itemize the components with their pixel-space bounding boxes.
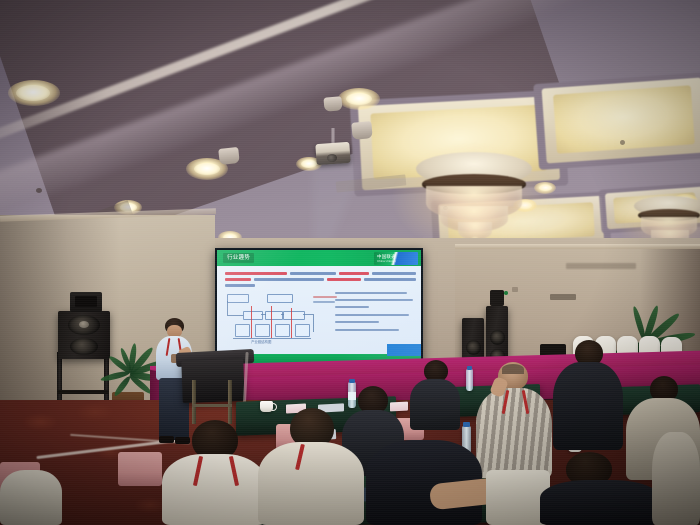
lectern-leg [228,380,232,424]
smoke-detector [36,188,42,193]
conference-room-photo: 行业趣势 中国联通 China Unicom [0,0,700,525]
wall-plate [512,287,518,292]
speaker-top-monitor-right [490,290,504,306]
attendee-foreground [258,408,364,525]
lectern-crossbar [192,404,232,407]
downlight-core [346,93,372,105]
attendee-foreground [162,420,266,525]
ceiling-spotlight-can [351,121,372,140]
attendee [553,340,623,450]
speaker-top-monitor-left [70,292,102,312]
wall-air-vent [550,294,576,300]
lectern-leg [192,380,196,424]
attendee [408,360,462,430]
downlight-core [16,85,50,101]
ceiling-spotlight-can [218,147,240,165]
lectern [181,359,244,403]
bottle-cap [467,366,472,370]
bottle-cap [463,422,470,427]
water-bottle[interactable] [466,369,473,391]
crystal-chandelier [404,152,544,248]
smoke-detector [620,140,625,145]
attendee-foreground [430,470,550,525]
wall-cornice [455,244,700,249]
ceiling-spotlight-can [323,96,342,112]
attendee-foreground [540,452,660,525]
wall-signage [566,263,636,269]
attendee-foreground [0,470,62,525]
attendee-foreground [652,432,700,525]
bottle-cap [349,379,355,383]
wall-indicator-light [504,291,508,295]
ceiling-coffer-panel [533,72,700,170]
downlight-core [194,163,220,175]
attendee-chair[interactable] [118,452,162,486]
